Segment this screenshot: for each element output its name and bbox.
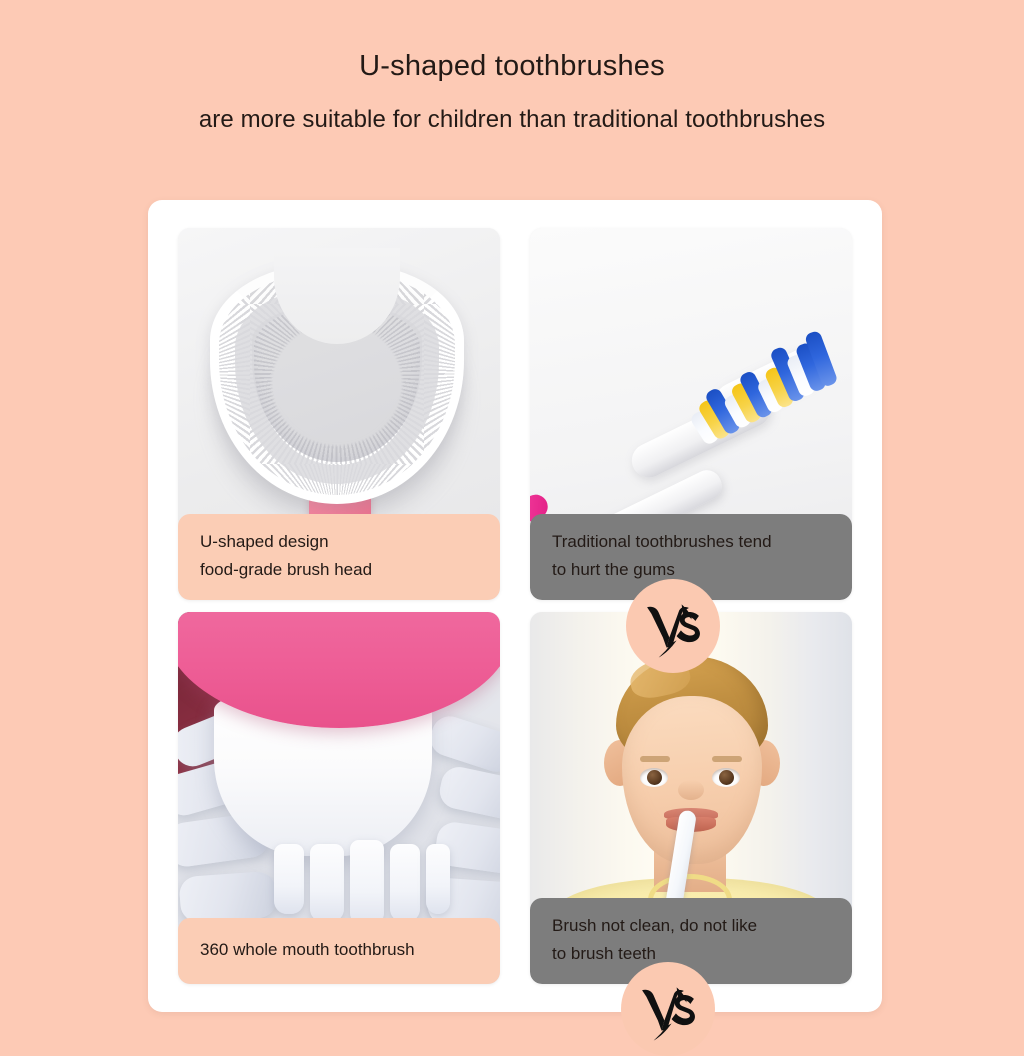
panel4-right-brow bbox=[712, 756, 742, 762]
caption-line: to hurt the gums bbox=[552, 556, 830, 584]
panel4-left-eye bbox=[640, 768, 668, 787]
caption-line: to brush teeth bbox=[552, 940, 830, 968]
panel-grid: U-shaped design food-grade brush head Tr… bbox=[178, 228, 852, 984]
panel-u-shaped-brush-head: U-shaped design food-grade brush head bbox=[178, 228, 500, 600]
caption-line: Traditional toothbrushes tend bbox=[552, 528, 830, 556]
panel4-nose bbox=[678, 780, 704, 800]
caption-line: Brush not clean, do not like bbox=[552, 912, 830, 940]
panel4-left-brow bbox=[640, 756, 670, 762]
caption-whole-mouth-brush: 360 whole mouth toothbrush bbox=[178, 918, 500, 984]
caption-u-shaped-brush-head: U-shaped design food-grade brush head bbox=[178, 514, 500, 600]
caption-line: 360 whole mouth toothbrush bbox=[200, 936, 478, 964]
panel3-tooth bbox=[350, 840, 384, 926]
headline-line-1: U-shaped toothbrushes bbox=[0, 49, 1024, 83]
panel3-tooth bbox=[274, 844, 304, 914]
headline: U-shaped toothbrushes are more suitable … bbox=[0, 0, 1024, 135]
comparison-card: U-shaped design food-grade brush head Tr… bbox=[148, 200, 882, 1012]
vs-badge-row-1 bbox=[626, 579, 720, 673]
headline-line-2: are more suitable for children than trad… bbox=[0, 105, 1024, 135]
panel-whole-mouth-brush: 360 whole mouth toothbrush bbox=[178, 612, 500, 984]
panel3-silicone-fin bbox=[179, 871, 278, 924]
vs-icon bbox=[637, 590, 709, 662]
panel3-tooth bbox=[390, 844, 420, 922]
panel-traditional-toothbrush: Traditional toothbrushes tend to hurt th… bbox=[530, 228, 852, 600]
panel3-tooth bbox=[426, 844, 450, 914]
vs-badge-row-2 bbox=[621, 962, 715, 1056]
vs-icon bbox=[632, 973, 704, 1045]
caption-line: U-shaped design bbox=[200, 528, 478, 556]
caption-line: food-grade brush head bbox=[200, 556, 478, 584]
panel4-right-eye bbox=[712, 768, 740, 787]
panel3-tooth bbox=[310, 844, 344, 922]
